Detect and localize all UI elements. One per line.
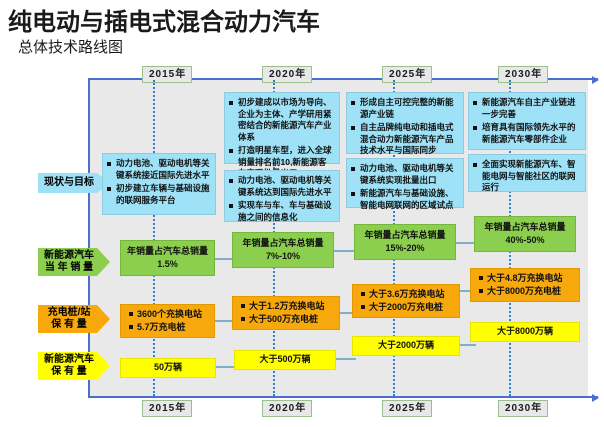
ownership-box-2020[interactable]: 大于500万辆 xyxy=(234,350,336,370)
ownership-box-2025[interactable]: 大于2000万辆 xyxy=(352,336,460,356)
status-box-2020-bottom[interactable]: 动力电池、驱动电机等关键系统达到国际先进水平 实现车与车、车与基础设施之间的信息… xyxy=(224,170,340,222)
status-box-2015[interactable]: 动力电池、驱动电机等关键系统接近国际先进水平 初步建立车辆与基础设施的联网服务平… xyxy=(102,153,216,215)
row-label-annual-sales-line1: 新能源汽车 xyxy=(44,250,94,262)
row-label-annual-sales-text: 新能源汽车 当 年 销 量 xyxy=(44,250,94,274)
page-subtitle: 总体技术路线图 xyxy=(18,36,123,57)
charger-value-line1: 大于3.6万充换电站 xyxy=(361,288,459,301)
timeline-axis-bottom xyxy=(88,396,598,398)
year-tag-bottom-2015: 2015年 xyxy=(142,400,192,417)
row-label-vehicle-ownership-text: 新能源汽车 保 有 量 xyxy=(44,354,94,378)
year-tag-bottom-2020: 2020年 xyxy=(262,400,312,417)
status-box-2020-top[interactable]: 初步建成以市场为导向、企业为主体、产学研用紧密结合的新能源汽车产业体系 打造明星… xyxy=(224,92,340,164)
row-label-vehicle-ownership-line2: 保 有 量 xyxy=(44,366,94,378)
charger-value-line2: 大于500万充电桩 xyxy=(241,313,339,326)
status-bullet: 新能源汽车自主产业链进一步完善 xyxy=(473,97,580,120)
sales-label-line1: 年销量占汽车总销量 xyxy=(242,237,323,250)
sales-box-2020[interactable]: 年销量占汽车总销量 7%-10% xyxy=(232,232,334,268)
row-label-vehicle-ownership-line1: 新能源汽车 xyxy=(44,354,94,366)
sales-value: 1.5% xyxy=(157,258,178,271)
status-bullet: 动力电池、驱动电机等关键系统实现批量出口 xyxy=(351,163,458,186)
charger-box-2015[interactable]: 3600个充换电站 5.7万充电桩 xyxy=(120,304,215,338)
row-label-charging-piles-line1: 充电桩/站 xyxy=(48,307,91,319)
row-label-charging-piles-line2: 保 有 量 xyxy=(48,319,91,331)
ownership-box-2015[interactable]: 50万辆 xyxy=(120,358,216,378)
row-label-charging-piles-text: 充电桩/站 保 有 量 xyxy=(48,307,91,331)
charger-value-line1: 大于1.2万充换电站 xyxy=(241,300,339,313)
row-label-annual-sales-line2: 当 年 销 量 xyxy=(44,262,94,274)
status-bullet: 动力电池、驱动电机等关键系统达到国际先进水平 xyxy=(229,175,334,198)
charger-box-2025[interactable]: 大于3.6万充换电站 大于2000万充电桩 xyxy=(352,284,460,318)
year-tag-top-2025: 2025年 xyxy=(382,66,432,83)
year-tag-bottom-2025: 2025年 xyxy=(382,400,432,417)
sales-label-line1: 年销量占汽车总销量 xyxy=(127,245,208,258)
year-tag-top-2015: 2015年 xyxy=(142,66,192,83)
charger-value-line2: 大于2000万充电桩 xyxy=(361,301,459,314)
status-bullet: 初步建成以市场为导向、企业为主体、产学研用紧密结合的新能源汽车产业体系 xyxy=(229,97,334,143)
charger-value-line1: 3600个充换电站 xyxy=(129,308,214,321)
row-label-annual-sales[interactable]: 新能源汽车 当 年 销 量 xyxy=(38,248,110,276)
status-bullet: 形成自主可控完整的新能源产业链 xyxy=(351,97,458,120)
sales-box-2030[interactable]: 年销量占汽车总销量 40%-50% xyxy=(474,216,576,252)
status-bullet: 全面实现新能源汽车、智能电网与智能社区的联网运行 xyxy=(473,159,580,194)
status-box-2025-top[interactable]: 形成自主可控完整的新能源产业链 自主品牌纯电动和插电式混合动力新能源汽车产品技术… xyxy=(346,92,464,154)
sales-box-2015[interactable]: 年销量占汽车总销量 1.5% xyxy=(120,240,215,276)
status-bullet: 自主品牌纯电动和插电式混合动力新能源汽车产品技术水平与国际同步 xyxy=(351,122,458,157)
row-label-vehicle-ownership[interactable]: 新能源汽车 保 有 量 xyxy=(38,352,110,380)
status-bullet: 实现车与车、车与基础设施之间的信息化 xyxy=(229,200,334,223)
sales-label-line1: 年销量占汽车总销量 xyxy=(364,229,445,242)
row-label-status-text: 现状与目标 xyxy=(44,177,94,189)
charger-value-line2: 大于8000万充电桩 xyxy=(479,285,579,298)
charger-value-line2: 5.7万充电桩 xyxy=(129,321,214,334)
row-label-status[interactable]: 现状与目标 xyxy=(38,173,110,193)
row-label-charging-piles[interactable]: 充电桩/站 保 有 量 xyxy=(38,305,110,333)
sales-label-line1: 年销量占汽车总销量 xyxy=(484,221,565,234)
gridline-2015 xyxy=(153,80,155,396)
year-tag-bottom-2030: 2030年 xyxy=(498,400,548,417)
status-bullet: 新能源汽车与基础设施、智能电网联网的区域试点 xyxy=(351,188,458,211)
ownership-box-2030[interactable]: 大于8000万辆 xyxy=(470,322,580,342)
sales-value: 15%-20% xyxy=(385,242,424,255)
status-box-2030-bottom[interactable]: 全面实现新能源汽车、智能电网与智能社区的联网运行 xyxy=(468,154,586,192)
page-title: 纯电动与插电式混合动力汽车 xyxy=(8,2,320,37)
charger-box-2030[interactable]: 大于4.8万充换电站 大于8000万充电桩 xyxy=(470,268,580,302)
sales-box-2025[interactable]: 年销量占汽车总销量 15%-20% xyxy=(354,224,456,260)
status-box-2025-bottom[interactable]: 动力电池、驱动电机等关键系统实现批量出口 新能源汽车与基础设施、智能电网联网的区… xyxy=(346,158,464,208)
year-tag-top-2020: 2020年 xyxy=(262,66,312,83)
sales-value: 40%-50% xyxy=(505,234,544,247)
sales-value: 7%-10% xyxy=(266,250,300,263)
year-tag-top-2030: 2030年 xyxy=(498,66,548,83)
status-bullet: 初步建立车辆与基础设施的联网服务平台 xyxy=(107,183,210,206)
status-box-2030-top[interactable]: 新能源汽车自主产业链进一步完善 培育具有国际领先水平的新能源汽车零部件企业 xyxy=(468,92,586,150)
status-bullet: 动力电池、驱动电机等关键系统接近国际先进水平 xyxy=(107,158,210,181)
charger-value-line1: 大于4.8万充换电站 xyxy=(479,272,579,285)
charger-box-2020[interactable]: 大于1.2万充换电站 大于500万充电桩 xyxy=(232,296,340,330)
status-bullet: 培育具有国际领先水平的新能源汽车零部件企业 xyxy=(473,122,580,145)
